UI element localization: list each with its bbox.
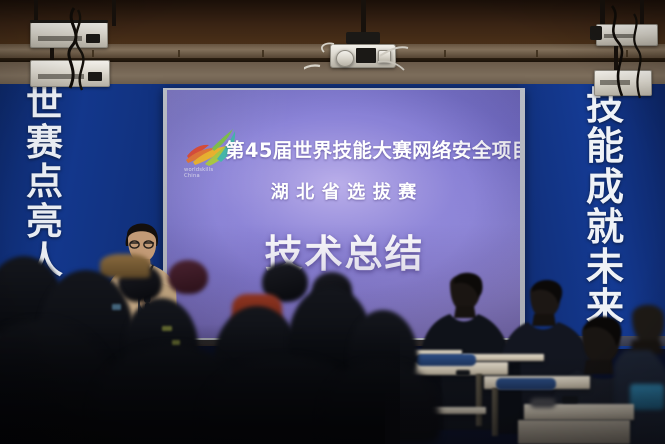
phone-screen-glow	[112, 304, 121, 310]
desk-device	[456, 370, 470, 376]
banner-left-char-2: 点	[26, 162, 63, 201]
cable-bundle-right	[588, 4, 658, 104]
banner-right-char-1: 能	[586, 126, 624, 166]
chair-back	[530, 398, 556, 408]
banner-right-char-2: 成	[586, 167, 624, 207]
audience-person	[100, 254, 150, 278]
desk-leg	[492, 388, 498, 436]
slide-title: 第45届世界技能大赛网络安全项目	[225, 134, 517, 163]
chair-back	[496, 378, 556, 390]
photo-scene: 世 赛 点 亮 人 技 能 成 就 未 来 worldskills	[0, 0, 665, 444]
desk-device	[562, 396, 578, 403]
cable-bundle-left	[40, 6, 110, 94]
phone-screen-glow	[172, 340, 180, 345]
audience-head-hat	[168, 260, 208, 294]
phone-screen-glow	[162, 326, 172, 331]
projector-center	[318, 30, 410, 78]
desk-leg	[476, 374, 482, 426]
left-wall-banner: 世 赛 点 亮 人	[26, 84, 63, 280]
slide-subtitle: 湖北省选拔赛	[167, 178, 520, 204]
collar-accent	[630, 384, 664, 410]
banner-left-char-3: 亮	[26, 202, 63, 241]
banner-left-char-1: 赛	[26, 123, 63, 162]
desk-front	[518, 420, 630, 444]
chair-back	[416, 354, 476, 366]
banner-right-char-3: 就	[586, 207, 624, 247]
foreground-audience	[0, 268, 400, 444]
